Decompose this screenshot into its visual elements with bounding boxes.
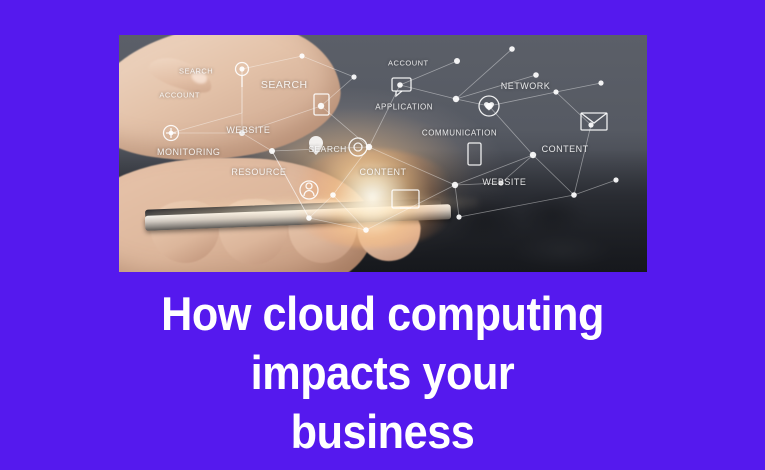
pointing-finger <box>146 49 217 98</box>
title-line-1: How cloud computing <box>31 284 735 343</box>
slide-canvas: SEARCHACCOUNTSEARCHACCOUNTNETWORKAPPLICA… <box>0 0 765 470</box>
title-line-3: business <box>31 402 735 461</box>
title-line-2: impacts your <box>31 343 735 402</box>
hero-image: SEARCHACCOUNTSEARCHACCOUNTNETWORKAPPLICA… <box>119 35 647 272</box>
page-title: How cloud computing impacts your busines… <box>31 284 735 461</box>
